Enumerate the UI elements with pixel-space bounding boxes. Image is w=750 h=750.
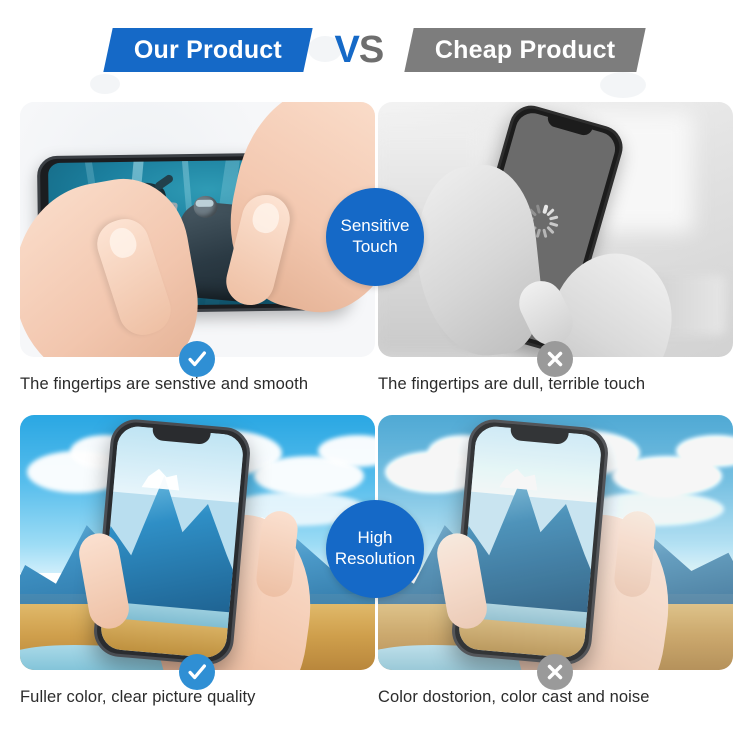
vs-label: VS <box>334 31 383 69</box>
diver-head <box>193 195 217 217</box>
comparison-infographic: Our Product VS Cheap Product <box>0 0 750 750</box>
badge-line-1: High <box>358 528 393 549</box>
feature-badge-sensitive-touch: Sensitive Touch <box>326 188 424 286</box>
fingernail <box>106 224 140 261</box>
our-product-label: Our Product <box>134 38 282 63</box>
header: Our Product VS Cheap Product <box>0 0 750 100</box>
feature-badge-high-resolution: High Resolution <box>326 500 424 598</box>
photo-ours-resolution <box>20 415 375 670</box>
decorative-blob <box>90 74 120 94</box>
scene-mountain-vivid <box>20 415 375 670</box>
caption-cheap-resolution: Color dostorion, color cast and noise <box>378 688 733 707</box>
photo-cheap-touch <box>378 102 733 357</box>
check-icon <box>179 654 215 690</box>
caption-ours-touch: The fingertips are senstive and smooth <box>20 375 375 394</box>
vs-letter-v: V <box>334 29 358 71</box>
scene-loading-phone <box>378 102 733 357</box>
badge-line-2: Resolution <box>335 549 415 570</box>
cheap-product-banner: Cheap Product <box>404 28 646 72</box>
fingernail <box>250 200 282 235</box>
photo-ours-touch <box>20 102 375 357</box>
photo-cheap-resolution <box>378 415 733 670</box>
caption-ours-resolution: Fuller color, clear picture quality <box>20 688 375 707</box>
check-icon <box>179 341 215 377</box>
cross-icon <box>537 341 573 377</box>
badge-line-1: Sensitive <box>341 216 410 237</box>
badge-line-2: Touch <box>352 237 397 258</box>
scene-mountain-washed <box>378 415 733 670</box>
our-product-banner: Our Product <box>104 28 313 72</box>
vs-letter-s: S <box>359 29 383 71</box>
cheap-product-label: Cheap Product <box>435 38 615 63</box>
caption-cheap-touch: The fingertips are dull, terrible touch <box>378 375 733 394</box>
cross-icon <box>537 654 573 690</box>
scene-game-phone <box>20 102 375 357</box>
decorative-blob <box>600 72 646 98</box>
